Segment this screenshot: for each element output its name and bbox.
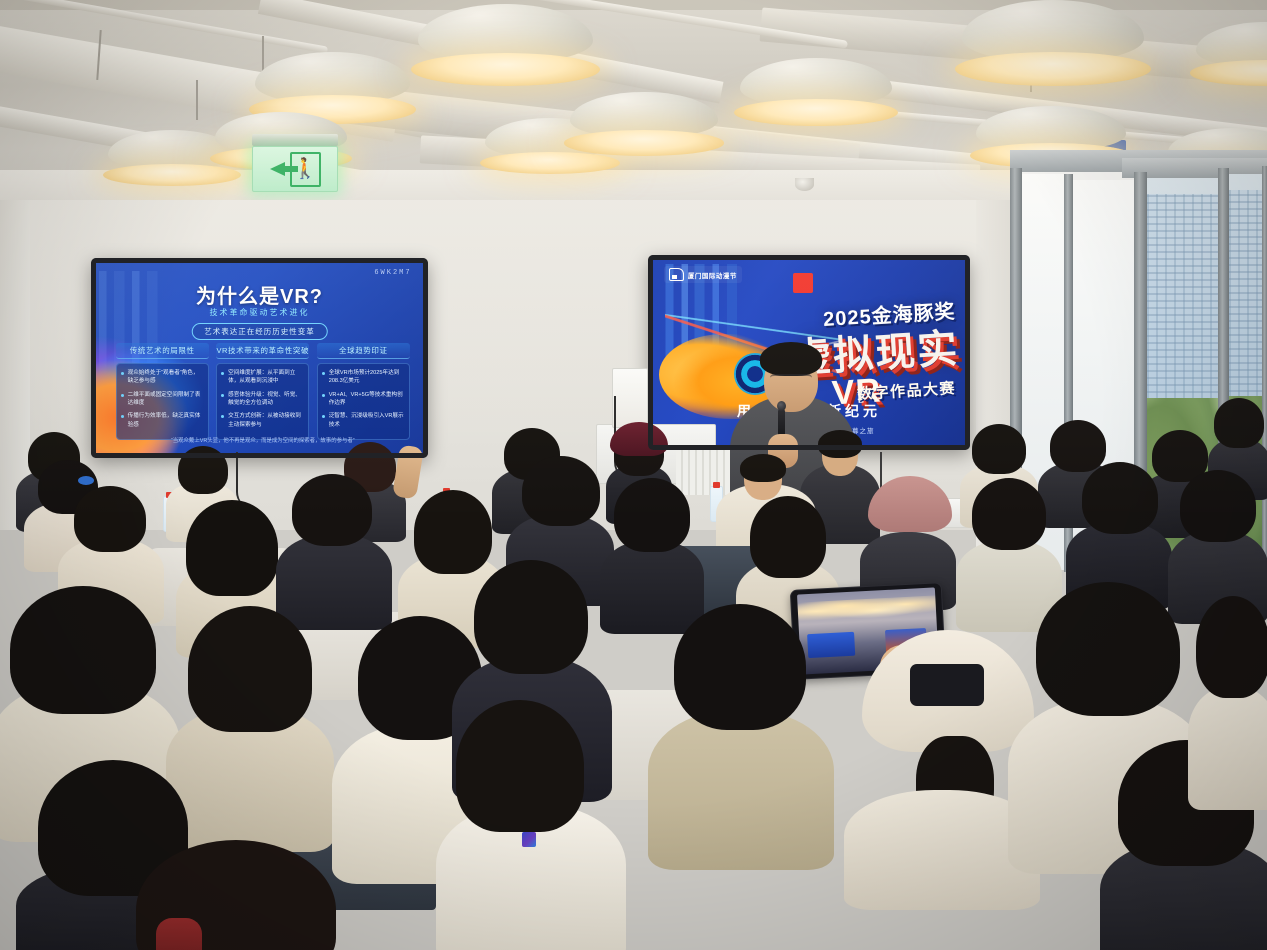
audience-member	[276, 474, 392, 622]
audience-member	[1066, 462, 1172, 602]
screen-watermark: 6WK2M7	[374, 269, 411, 277]
pink-cap	[868, 476, 952, 532]
slide-column: VR技术带来的革命性突破 空间维度扩展：从平面到立体，从观看到沉浸中 感官体验升…	[216, 343, 309, 423]
pendant-lamp	[570, 92, 718, 156]
audience-member	[648, 604, 834, 854]
column-body: 全球VR市场预计2025年达到208.3亿美元 VR+AI、VR+5G等技术重构…	[317, 363, 410, 440]
slide-column: 传统艺术的局限性 观众始终处于“观看者”角色，缺乏参与感 二维平面或固定空间限制…	[116, 343, 209, 423]
bullet-item: 传播行为效率低，缺乏真实体验感	[121, 412, 203, 429]
hair-clip	[78, 476, 94, 485]
column-body: 观众始终处于“观看者”角色，缺乏参与感 二维平面或固定空间限制了表达维度 传播行…	[116, 363, 209, 440]
bullet-item: 观众始终处于“观看者”角色，缺乏参与感	[121, 369, 203, 386]
audience-member	[136, 840, 346, 950]
festival-logo-text: 厦门国际动漫节	[688, 270, 737, 280]
bullet-item: 交互方式创新：从被动接收到主动探索参与	[221, 412, 303, 429]
office-tower-view	[1229, 190, 1266, 420]
bullet-item: 泛智慧、沉浸级吸引入VR展示技术	[322, 412, 404, 429]
pendant-lamp	[418, 4, 593, 86]
pendant-lamp	[740, 58, 892, 126]
cap-strap-opening	[910, 664, 984, 706]
slide-title: 为什么是VR?	[96, 280, 423, 309]
bullet-item: 空间维度扩展：从平面到立体，从观看到沉浸中	[221, 369, 303, 386]
column-header: VR技术带来的革命性突破	[216, 343, 309, 359]
festival-logo-mark	[669, 268, 684, 281]
maroon-cap	[610, 422, 668, 456]
t-shirt-logo	[522, 832, 536, 847]
office-tower-view	[1147, 194, 1218, 421]
pendant-lamp	[1196, 22, 1267, 86]
festival-logo: 厦门国际动漫节	[664, 266, 742, 283]
slide-column: 全球趋势印证 全球VR市场预计2025年达到208.3亿美元 VR+AI、VR+…	[317, 343, 410, 423]
left-display-screen[interactable]: 6WK2M7 为什么是VR? 技术革命驱动艺术进化 艺术表达正在经历历史性变革 …	[91, 258, 428, 458]
bullet-item: 全球VR市场预计2025年达到208.3亿美元	[322, 369, 404, 386]
bullet-item: 二维平面或固定空间限制了表达维度	[121, 391, 203, 408]
red-accent-block	[793, 273, 813, 293]
column-body: 空间维度扩展：从平面到立体，从观看到沉浸中 感官体验升级：视觉、听觉、触觉的全方…	[216, 363, 309, 440]
column-header: 传统艺术的局限性	[116, 343, 209, 359]
conference-room-photo: ⇦ 🚶 6W	[0, 0, 1267, 950]
necklace	[156, 918, 202, 950]
emergency-exit-sign: ⇦ 🚶	[252, 146, 338, 192]
bullet-item: VR+AI、VR+5G等技术重构创作边界	[322, 391, 404, 408]
bullet-item: 感官体验升级：视觉、听觉、触觉的全方位调动	[221, 391, 303, 408]
slide-why-vr: 6WK2M7 为什么是VR? 技术革命驱动艺术进化 艺术表达正在经历历史性变革 …	[96, 263, 423, 453]
column-header: 全球趋势印证	[317, 343, 410, 359]
left-arrow-icon	[270, 162, 285, 176]
eyeglasses	[770, 374, 812, 385]
audience-member	[436, 700, 626, 950]
exit-sign-housing	[252, 134, 338, 146]
slide-subtitle: 技术革命驱动艺术进化	[96, 307, 423, 318]
pendant-lamp	[962, 0, 1144, 86]
slide-columns: 传统艺术的局限性 观众始终处于“观看者”角色，缺乏参与感 二维平面或固定空间限制…	[116, 343, 410, 423]
slide-pill-banner: 艺术表达正在经历历史性变革	[191, 323, 328, 340]
audience-member	[1188, 596, 1267, 796]
presenter-hair	[760, 342, 822, 376]
security-camera-icon	[795, 178, 814, 191]
